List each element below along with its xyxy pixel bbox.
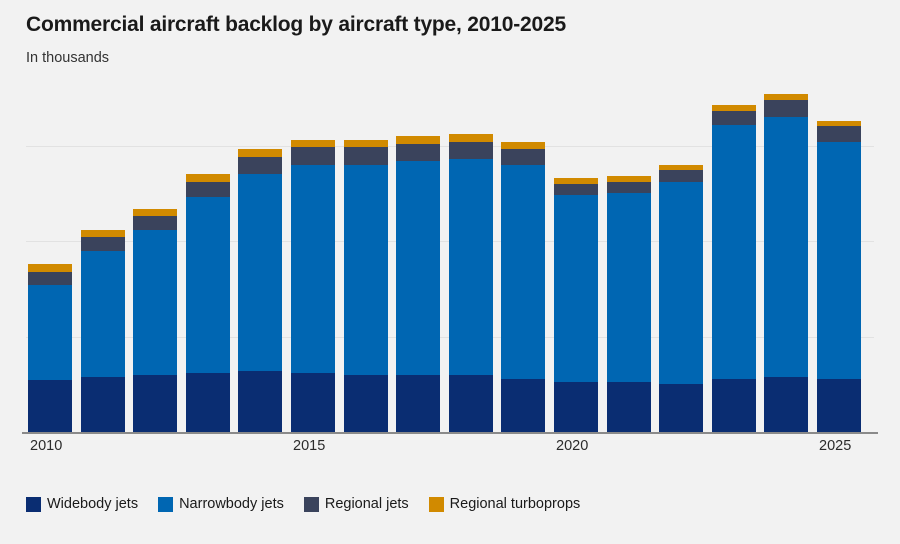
bar-segment <box>81 230 125 238</box>
bar-segment <box>396 136 440 144</box>
bar-segment <box>659 182 703 384</box>
bar-segment <box>238 157 282 174</box>
legend-label: Widebody jets <box>47 496 138 512</box>
bar-segment <box>607 182 651 193</box>
bar-segment <box>81 377 125 432</box>
legend-label: Regional turboprops <box>450 496 581 512</box>
x-tick-label: 2010 <box>30 438 62 454</box>
bar-2013[interactable] <box>186 174 230 432</box>
bar-2019[interactable] <box>501 142 545 432</box>
bar-segment <box>28 380 72 432</box>
legend-item[interactable]: Regional jets <box>304 496 409 512</box>
bar-2018[interactable] <box>449 134 493 432</box>
bar-segment <box>501 379 545 432</box>
bar-segment <box>133 216 177 229</box>
bar-segment <box>554 184 598 195</box>
bar-segment <box>712 125 756 379</box>
x-tick-label: 2020 <box>556 438 588 454</box>
bar-segment <box>396 161 440 375</box>
bar-2011[interactable] <box>81 230 125 432</box>
bar-segment <box>133 209 177 217</box>
bar-2010[interactable] <box>28 264 72 432</box>
bar-segment <box>344 165 388 375</box>
bar-segment <box>238 174 282 371</box>
bar-2017[interactable] <box>396 136 440 432</box>
bar-segment <box>133 375 177 432</box>
bar-segment <box>238 149 282 157</box>
bar-segment <box>449 375 493 432</box>
bar-2016[interactable] <box>344 140 388 432</box>
bar-segment <box>554 195 598 382</box>
bar-segment <box>449 134 493 142</box>
bar-segment <box>396 144 440 161</box>
bar-2014[interactable] <box>238 149 282 432</box>
plot-area <box>0 95 900 435</box>
bar-2015[interactable] <box>291 140 335 432</box>
bar-segment <box>607 193 651 382</box>
legend-item[interactable]: Narrowbody jets <box>158 496 284 512</box>
bar-segment <box>817 142 861 379</box>
bar-segment <box>28 285 72 381</box>
bar-2020[interactable] <box>554 178 598 432</box>
bar-segment <box>817 126 861 141</box>
bar-segment <box>28 264 72 272</box>
bar-segment <box>186 174 230 182</box>
chart-container: Commercial aircraft backlog by aircraft … <box>0 0 900 544</box>
bar-2021[interactable] <box>607 176 651 432</box>
bar-segment <box>712 111 756 124</box>
bar-segment <box>554 382 598 432</box>
bar-2023[interactable] <box>712 105 756 432</box>
bars-layer <box>0 95 900 435</box>
bar-segment <box>291 373 335 432</box>
legend-swatch-icon <box>26 497 41 512</box>
bar-segment <box>344 375 388 432</box>
legend-label: Narrowbody jets <box>179 496 284 512</box>
chart-subtitle: In thousands <box>26 50 109 66</box>
bar-segment <box>344 147 388 164</box>
bar-segment <box>764 117 808 377</box>
bar-segment <box>133 230 177 375</box>
legend-item[interactable]: Widebody jets <box>26 496 138 512</box>
bar-segment <box>186 182 230 197</box>
bar-2025[interactable] <box>817 121 861 432</box>
bar-segment <box>81 251 125 377</box>
bar-segment <box>449 142 493 159</box>
bar-segment <box>238 371 282 432</box>
legend-swatch-icon <box>158 497 173 512</box>
bar-segment <box>501 149 545 164</box>
bar-segment <box>28 272 72 285</box>
bar-segment <box>344 140 388 148</box>
bar-segment <box>659 384 703 432</box>
bar-segment <box>764 100 808 117</box>
bar-segment <box>449 159 493 375</box>
bar-segment <box>81 237 125 250</box>
legend-item[interactable]: Regional turboprops <box>429 496 581 512</box>
bar-segment <box>607 382 651 432</box>
x-tick-label: 2025 <box>819 438 851 454</box>
legend-swatch-icon <box>304 497 319 512</box>
bar-segment <box>817 379 861 432</box>
legend-swatch-icon <box>429 497 444 512</box>
legend-label: Regional jets <box>325 496 409 512</box>
x-tick-label: 2015 <box>293 438 325 454</box>
bar-segment <box>764 377 808 432</box>
bar-segment <box>186 373 230 432</box>
bar-segment <box>659 170 703 181</box>
bar-segment <box>291 140 335 148</box>
bar-segment <box>396 375 440 432</box>
bar-segment <box>501 165 545 379</box>
bar-segment <box>186 197 230 373</box>
bar-2012[interactable] <box>133 209 177 432</box>
chart-legend: Widebody jetsNarrowbody jetsRegional jet… <box>26 496 600 512</box>
bar-2022[interactable] <box>659 165 703 432</box>
bar-segment <box>291 147 335 164</box>
bar-segment <box>291 165 335 373</box>
chart-title: Commercial aircraft backlog by aircraft … <box>26 13 566 37</box>
bar-segment <box>712 379 756 432</box>
bar-2024[interactable] <box>764 94 808 432</box>
bar-segment <box>501 142 545 150</box>
